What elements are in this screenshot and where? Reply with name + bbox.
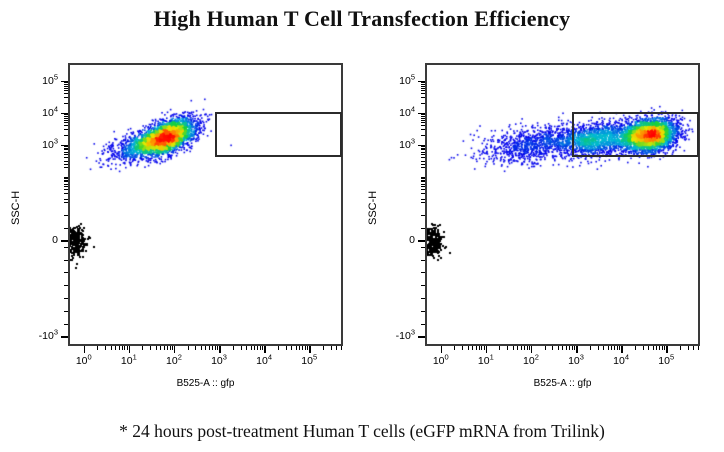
y-tick-minor — [421, 154, 425, 155]
x-tick-label: 101 — [478, 355, 494, 367]
y-tick-minor — [64, 161, 68, 162]
x-tick-minor — [619, 346, 620, 350]
y-tick-minor — [64, 97, 68, 98]
x-tick-minor — [664, 346, 665, 350]
y-tick-minor — [64, 157, 68, 158]
x-tick-label: 102 — [523, 355, 539, 367]
y-axis-title: SSC-H — [367, 190, 379, 224]
x-tick-minor — [246, 346, 247, 350]
y-tick-major — [418, 336, 425, 338]
y-tick-minor — [421, 324, 425, 325]
x-tick-major — [531, 346, 533, 353]
x-tick-minor — [254, 346, 255, 350]
x-tick-minor — [188, 346, 189, 350]
x-tick-minor — [209, 346, 210, 350]
x-axis-title: B525-A :: gfp — [68, 378, 343, 389]
x-tick-minor — [305, 346, 306, 350]
y-tick-minor — [421, 103, 425, 104]
x-tick-major — [666, 346, 668, 353]
y-tick-minor — [64, 228, 68, 229]
y-tick-minor — [64, 247, 68, 248]
y-tick-minor — [421, 189, 425, 190]
x-tick-label: 100 — [433, 355, 449, 367]
x-tick-minor — [278, 346, 279, 350]
x-tick-minor — [527, 346, 528, 350]
x-tick-minor — [142, 346, 143, 350]
y-tick-label: 0 — [24, 234, 58, 246]
y-tick-minor — [64, 116, 68, 117]
x-tick-minor — [156, 346, 157, 350]
y-tick-minor — [421, 180, 425, 181]
figure-caption: * 24 hours post-treatment Human T cells … — [0, 421, 724, 442]
x-tick-minor — [558, 346, 559, 350]
x-tick-major — [309, 346, 311, 353]
y-tick-minor — [64, 180, 68, 181]
y-tick-minor — [421, 181, 425, 182]
x-tick-minor — [127, 346, 128, 350]
x-tick-minor — [307, 346, 308, 350]
x-tick-minor — [160, 346, 161, 350]
x-tick-minor — [476, 346, 477, 350]
y-tick-minor — [421, 285, 425, 286]
y-tick-minor — [64, 199, 68, 200]
x-tick-major — [264, 346, 266, 353]
y-tick-minor — [64, 90, 68, 91]
x-tick-minor — [545, 346, 546, 350]
y-tick-minor — [421, 118, 425, 119]
y-tick-label: 104 — [381, 107, 415, 119]
y-tick-minor — [64, 103, 68, 104]
x-tick-minor — [614, 346, 615, 350]
x-tick-minor — [212, 346, 213, 350]
x-tick-minor — [662, 346, 663, 350]
y-tick-minor — [64, 88, 68, 89]
x-tick-major — [576, 346, 578, 353]
y-tick-minor — [64, 149, 68, 150]
page-title: High Human T Cell Transfection Efficienc… — [0, 6, 724, 32]
x-tick-label: 104 — [613, 355, 629, 367]
x-tick-minor — [499, 346, 500, 350]
y-tick-minor — [64, 135, 68, 136]
x-tick-minor — [262, 346, 263, 350]
y-tick-minor — [64, 125, 68, 126]
y-tick-minor — [64, 260, 68, 261]
y-tick-minor — [421, 184, 425, 185]
x-tick-label: 101 — [121, 355, 137, 367]
y-tick-minor — [64, 84, 68, 85]
y-tick-minor — [421, 215, 425, 216]
x-tick-minor — [105, 346, 106, 350]
y-tick-minor — [64, 189, 68, 190]
flow-cytometry-figure: High Human T Cell Transfection Efficienc… — [0, 0, 724, 452]
x-tick-minor — [603, 346, 604, 350]
y-tick-minor — [64, 146, 68, 147]
x-tick-minor — [302, 346, 303, 350]
y-axis-title: SSC-H — [10, 190, 22, 224]
y-tick-label: 104 — [24, 107, 58, 119]
x-tick-minor — [167, 346, 168, 350]
y-tick-label: 103 — [381, 139, 415, 151]
y-tick-minor — [64, 93, 68, 94]
y-tick-minor — [64, 82, 68, 83]
y-tick-minor — [64, 164, 68, 165]
y-tick-minor — [421, 93, 425, 94]
y-tick-label: 0 — [381, 234, 415, 246]
x-tick-major — [129, 346, 131, 353]
x-tick-minor — [680, 346, 681, 350]
y-tick-minor — [64, 154, 68, 155]
x-tick-minor — [251, 346, 252, 350]
x-tick-minor — [331, 346, 332, 350]
y-tick-minor — [421, 178, 425, 179]
x-tick-label: 102 — [166, 355, 182, 367]
y-tick-minor — [64, 120, 68, 121]
x-tick-minor — [562, 346, 563, 350]
y-tick-minor — [64, 324, 68, 325]
y-tick-minor — [421, 116, 425, 117]
x-tick-minor — [484, 346, 485, 350]
x-tick-minor — [205, 346, 206, 350]
x-tick-minor — [524, 346, 525, 350]
x-tick-minor — [296, 346, 297, 350]
y-tick-minor — [421, 122, 425, 123]
gfp-positive-gate[interactable] — [572, 112, 698, 157]
x-tick-major — [486, 346, 488, 353]
x-tick-minor — [635, 346, 636, 350]
y-tick-minor — [421, 125, 425, 126]
y-tick-minor — [421, 84, 425, 85]
x-tick-minor — [688, 346, 689, 350]
x-tick-minor — [462, 346, 463, 350]
x-tick-label: 104 — [256, 355, 272, 367]
y-tick-minor — [421, 177, 425, 178]
x-tick-minor — [233, 346, 234, 350]
y-tick-label: 105 — [24, 75, 58, 87]
y-tick-minor — [64, 114, 68, 115]
y-tick-minor — [421, 120, 425, 121]
y-tick-minor — [64, 122, 68, 123]
y-tick-minor — [64, 167, 68, 168]
x-axis-title: B525-A :: gfp — [425, 378, 700, 389]
x-tick-minor — [598, 346, 599, 350]
y-tick-minor — [421, 114, 425, 115]
x-tick-minor — [111, 346, 112, 350]
x-tick-minor — [653, 346, 654, 350]
y-tick-minor — [64, 177, 68, 178]
x-tick-label: 105 — [301, 355, 317, 367]
x-tick-minor — [217, 346, 218, 350]
y-tick-minor — [421, 148, 425, 149]
y-tick-minor — [64, 181, 68, 182]
y-tick-minor — [421, 247, 425, 248]
x-tick-minor — [97, 346, 98, 350]
x-tick-minor — [659, 346, 660, 350]
y-tick-minor — [421, 149, 425, 150]
x-tick-minor — [286, 346, 287, 350]
x-tick-minor — [454, 346, 455, 350]
y-tick-minor — [64, 215, 68, 216]
x-tick-minor — [201, 346, 202, 350]
y-tick-minor — [64, 193, 68, 194]
gfp-positive-gate[interactable] — [215, 112, 341, 157]
y-tick-major — [61, 240, 68, 242]
x-tick-minor — [566, 346, 567, 350]
x-tick-minor — [150, 346, 151, 350]
y-tick-minor — [421, 82, 425, 83]
y-tick-minor — [64, 148, 68, 149]
x-tick-minor — [291, 346, 292, 350]
y-tick-minor — [421, 157, 425, 158]
x-tick-minor — [574, 346, 575, 350]
x-tick-minor — [590, 346, 591, 350]
y-tick-minor — [64, 178, 68, 179]
x-tick-minor — [215, 346, 216, 350]
y-tick-minor — [421, 311, 425, 312]
x-tick-minor — [552, 346, 553, 350]
x-tick-minor — [608, 346, 609, 350]
x-tick-minor — [643, 346, 644, 350]
y-tick-minor — [64, 272, 68, 273]
y-tick-minor — [64, 285, 68, 286]
y-tick-major — [61, 336, 68, 338]
x-tick-label: 103 — [211, 355, 227, 367]
y-tick-minor — [421, 161, 425, 162]
x-tick-minor — [195, 346, 196, 350]
x-tick-minor — [170, 346, 171, 350]
x-tick-major — [441, 346, 443, 353]
x-tick-minor — [617, 346, 618, 350]
x-tick-minor — [648, 346, 649, 350]
x-tick-minor — [481, 346, 482, 350]
y-tick-minor — [421, 90, 425, 91]
x-tick-minor — [656, 346, 657, 350]
density-scatter-canvas — [427, 65, 698, 344]
x-tick-minor — [468, 346, 469, 350]
x-tick-minor — [164, 346, 165, 350]
y-tick-label: -103 — [24, 330, 58, 342]
x-tick-minor — [572, 346, 573, 350]
y-tick-minor — [64, 311, 68, 312]
y-tick-minor — [64, 202, 68, 203]
y-tick-minor — [421, 272, 425, 273]
x-tick-label: 100 — [76, 355, 92, 367]
y-tick-minor — [64, 118, 68, 119]
y-tick-minor — [421, 186, 425, 187]
x-tick-minor — [479, 346, 480, 350]
y-tick-minor — [421, 164, 425, 165]
x-tick-minor — [611, 346, 612, 350]
y-tick-minor — [421, 146, 425, 147]
y-tick-minor — [421, 86, 425, 87]
y-tick-minor — [64, 129, 68, 130]
y-tick-minor — [421, 97, 425, 98]
x-tick-minor — [472, 346, 473, 350]
x-tick-major — [84, 346, 86, 353]
y-tick-minor — [421, 228, 425, 229]
x-tick-minor — [513, 346, 514, 350]
y-tick-minor — [421, 135, 425, 136]
y-tick-minor — [421, 88, 425, 89]
x-tick-minor — [521, 346, 522, 350]
x-tick-minor — [569, 346, 570, 350]
x-tick-minor — [323, 346, 324, 350]
x-tick-minor — [122, 346, 123, 350]
x-tick-minor — [517, 346, 518, 350]
x-tick-minor — [241, 346, 242, 350]
y-tick-label: -103 — [381, 330, 415, 342]
density-scatter-canvas — [70, 65, 341, 344]
y-tick-minor — [421, 129, 425, 130]
x-tick-minor — [507, 346, 508, 350]
x-tick-minor — [341, 346, 342, 350]
y-tick-minor — [64, 298, 68, 299]
x-tick-major — [174, 346, 176, 353]
y-tick-minor — [421, 260, 425, 261]
y-tick-minor — [64, 152, 68, 153]
y-tick-minor — [421, 199, 425, 200]
y-tick-minor — [421, 152, 425, 153]
y-tick-minor — [421, 193, 425, 194]
x-tick-minor — [336, 346, 337, 350]
x-tick-major — [621, 346, 623, 353]
y-tick-minor — [421, 298, 425, 299]
x-tick-minor — [119, 346, 120, 350]
x-tick-minor — [529, 346, 530, 350]
x-tick-label: 105 — [658, 355, 674, 367]
x-tick-minor — [260, 346, 261, 350]
x-tick-minor — [299, 346, 300, 350]
y-tick-minor — [421, 167, 425, 168]
y-tick-minor — [64, 86, 68, 87]
x-tick-minor — [115, 346, 116, 350]
y-tick-minor — [64, 184, 68, 185]
x-tick-minor — [698, 346, 699, 350]
y-tick-major — [418, 240, 425, 242]
x-tick-minor — [257, 346, 258, 350]
y-tick-label: 103 — [24, 139, 58, 151]
y-tick-minor — [421, 202, 425, 203]
y-tick-minor — [64, 186, 68, 187]
y-tick-label: 105 — [381, 75, 415, 87]
x-tick-minor — [124, 346, 125, 350]
x-tick-minor — [172, 346, 173, 350]
x-tick-major — [219, 346, 221, 353]
x-tick-minor — [693, 346, 694, 350]
x-tick-label: 103 — [568, 355, 584, 367]
